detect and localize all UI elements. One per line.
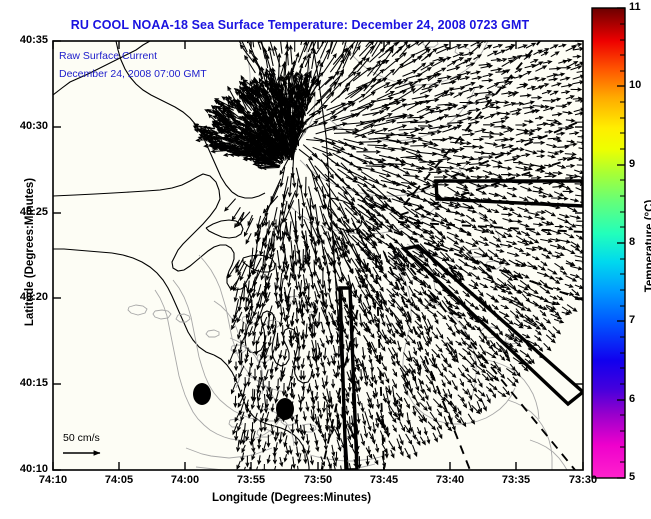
x-tick-label: 73:40 [430, 474, 470, 486]
x-tick-label: 73:35 [496, 474, 536, 486]
y-axis-label: Latitude (Degrees:Minutes) [24, 162, 36, 342]
colorbar-tick-label: 6 [629, 393, 635, 405]
y-tick-label: 40:10 [4, 463, 48, 475]
y-tick-label: 40:15 [4, 377, 48, 389]
colorbar-tick-label: 10 [629, 79, 641, 91]
annotation-line-2: December 24, 2008 07:00 GMT [59, 68, 207, 80]
x-tick-label: 74:05 [99, 474, 139, 486]
scale-arrow-label: 50 cm/s [63, 432, 100, 444]
x-tick-label: 74:10 [33, 474, 73, 486]
x-tick-label: 73:55 [231, 474, 271, 486]
x-tick-label: 73:50 [298, 474, 338, 486]
colorbar-tick-label: 7 [629, 314, 635, 326]
x-axis-label: Longitude (Degrees:Minutes) [0, 492, 583, 504]
colorbar-tick-label: 8 [629, 236, 635, 248]
radar-site-marker [276, 398, 294, 420]
x-tick-label: 73:30 [563, 474, 603, 486]
figure-root: RU COOL NOAA-18 Sea Surface Temperature:… [0, 0, 651, 519]
radar-site-marker [193, 383, 211, 405]
colorbar [592, 8, 625, 478]
y-tick-label: 40:30 [4, 120, 48, 132]
annotation-line-1: Raw Surface Current [59, 50, 157, 62]
colorbar-label: Temperature (°C) [644, 166, 651, 326]
colorbar-tick-label: 5 [629, 471, 635, 483]
colorbar-tick-label: 9 [629, 158, 635, 170]
x-tick-label: 73:45 [364, 474, 404, 486]
y-tick-label: 40:25 [4, 206, 48, 218]
y-tick-label: 40:35 [4, 34, 48, 46]
x-tick-label: 74:00 [165, 474, 205, 486]
y-tick-label: 40:20 [4, 291, 48, 303]
colorbar-tick-label: 11 [629, 1, 641, 13]
